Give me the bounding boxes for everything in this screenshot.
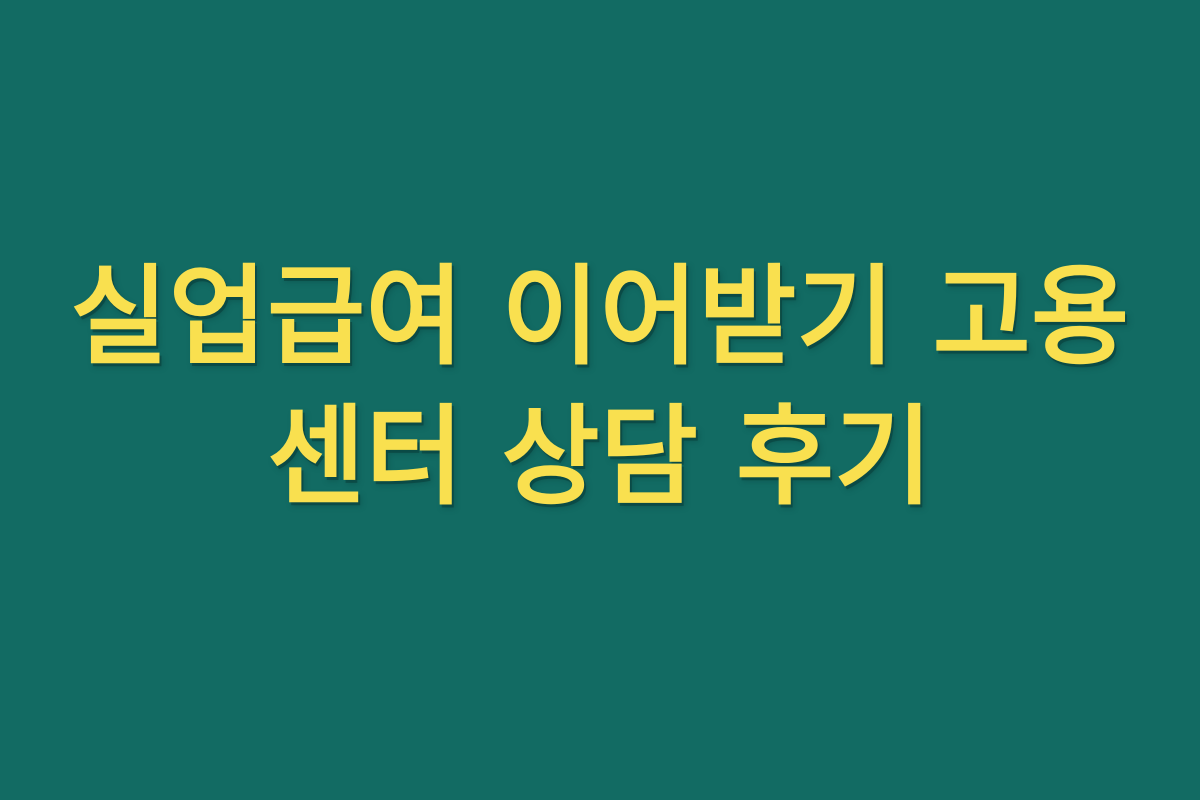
page-title: 실업급여 이어받기 고용 센터 상담 후기 [40,248,1160,529]
title-banner: 실업급여 이어받기 고용 센터 상담 후기 [0,0,1200,800]
title-line-1: 실업급여 이어받기 고용 [48,248,1151,388]
title-line-2: 센터 상담 후기 [48,388,1151,528]
